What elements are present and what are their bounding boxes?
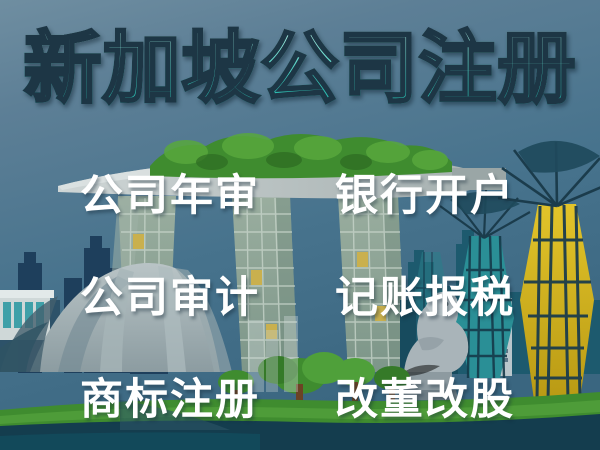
service-cell[interactable]: 公司审计 <box>80 270 335 326</box>
service-label-bank-account-opening: 银行开户 <box>335 175 515 218</box>
service-label-trademark-registration: 商标注册 <box>80 379 260 422</box>
service-row: 公司审计 记账报税 <box>0 270 600 326</box>
service-row: 公司年审 银行开户 <box>0 168 600 224</box>
poster-canvas: 新加坡公司注册 公司年审 银行开户 公司审计 记账报税 商标注册 改董改股 <box>0 0 600 450</box>
service-cell[interactable]: 商标注册 <box>80 372 335 428</box>
service-cell[interactable]: 记账报税 <box>335 270 590 326</box>
service-cell[interactable]: 公司年审 <box>80 168 335 224</box>
service-label-bookkeeping-tax-filing: 记账报税 <box>335 277 515 320</box>
service-grid: 公司年审 银行开户 公司审计 记账报税 商标注册 改董改股 <box>0 160 600 440</box>
service-label-director-shareholder-change: 改董改股 <box>335 379 515 422</box>
service-cell[interactable]: 银行开户 <box>335 168 590 224</box>
service-label-company-annual-review: 公司年审 <box>80 175 260 218</box>
service-cell[interactable]: 改董改股 <box>335 372 590 428</box>
service-row: 商标注册 改董改股 <box>0 372 600 428</box>
service-label-company-audit: 公司审计 <box>80 277 260 320</box>
